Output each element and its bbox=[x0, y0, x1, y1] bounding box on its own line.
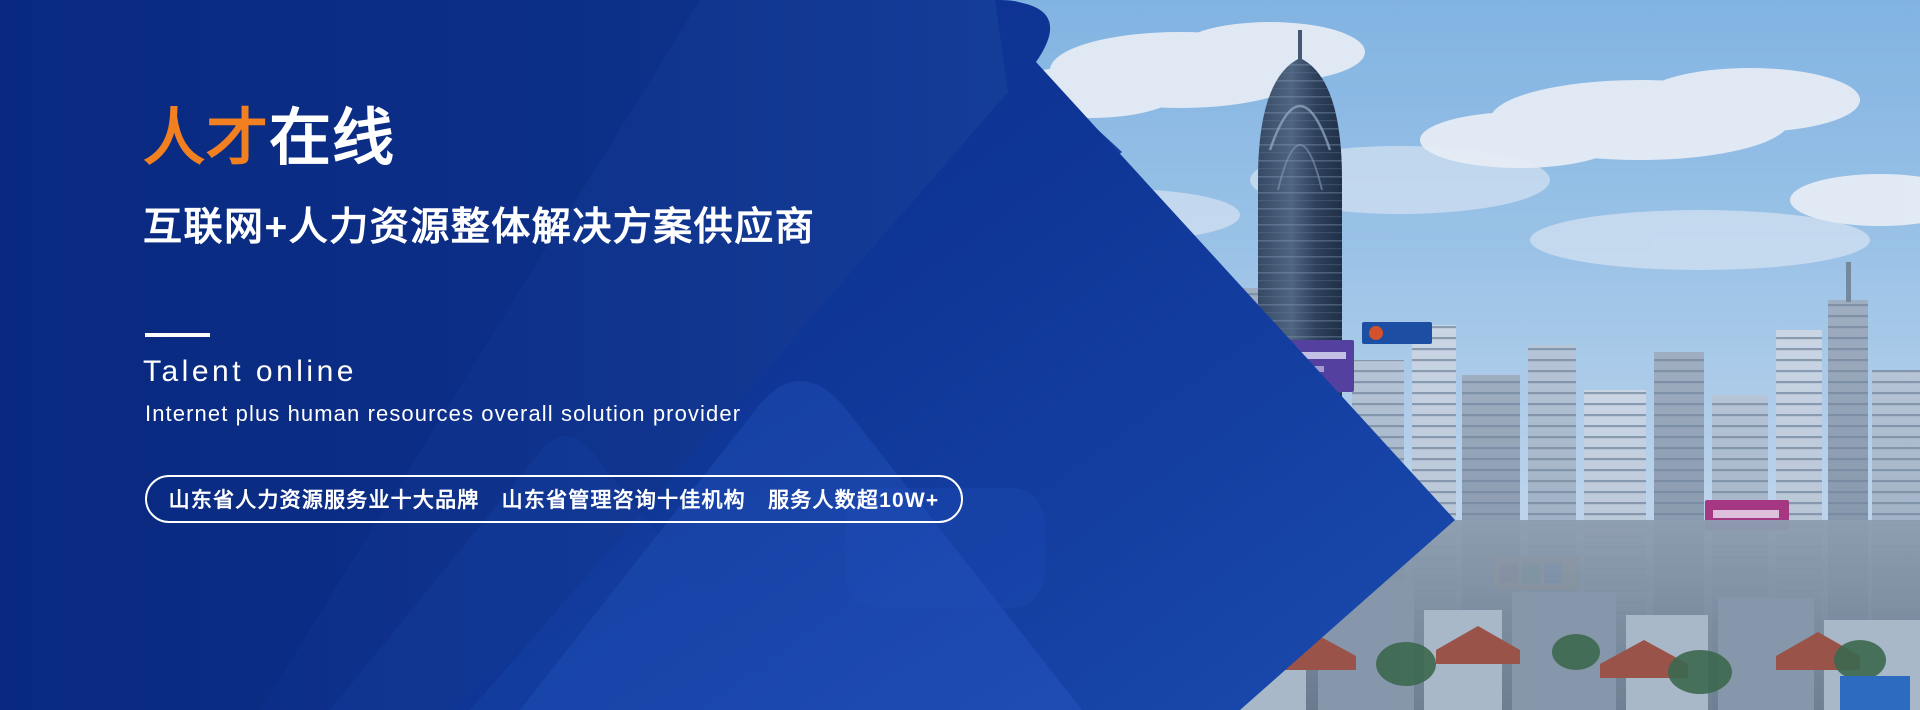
english-title: Talent online bbox=[143, 355, 357, 389]
credentials-badge: 山东省人力资源服务业十大品牌 山东省管理咨询十佳机构 服务人数超10W+ bbox=[145, 475, 963, 523]
page-title: 人才在线 bbox=[143, 108, 395, 170]
credentials-badge-text: 山东省人力资源服务业十大品牌 山东省管理咨询十佳机构 服务人数超10W+ bbox=[169, 484, 940, 514]
headline-accent: 人才 bbox=[143, 104, 269, 173]
hero-banner: 人才在线 互联网+人力资源整体解决方案供应商 Talent online Int… bbox=[0, 0, 1920, 710]
banner-content: 人才在线 互联网+人力资源整体解决方案供应商 Talent online Int… bbox=[143, 0, 1043, 710]
subtitle: 互联网+人力资源整体解决方案供应商 bbox=[143, 196, 815, 252]
divider bbox=[145, 333, 210, 337]
headline-plain: 在线 bbox=[269, 104, 395, 173]
english-subtitle: Internet plus human resources overall so… bbox=[145, 401, 741, 427]
